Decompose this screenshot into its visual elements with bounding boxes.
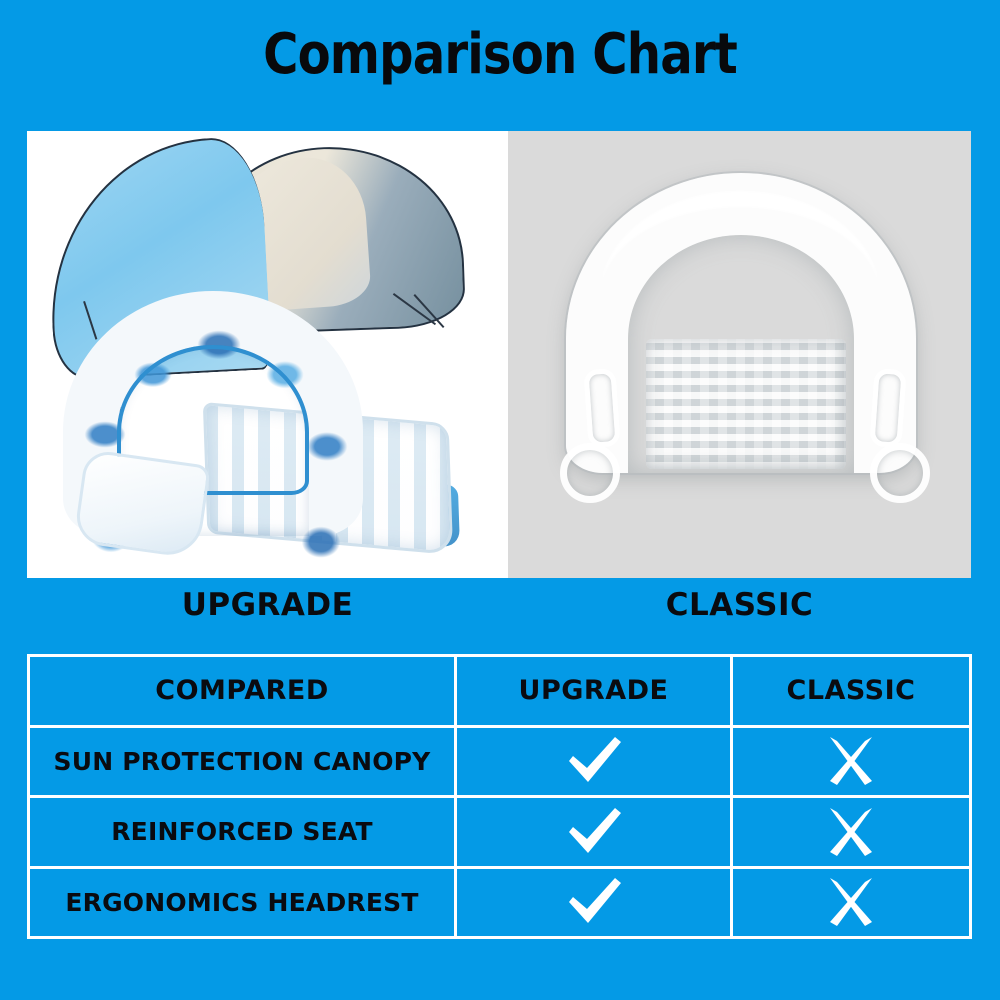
- product-image-classic: Clear transparent U-shaped inflatable po…: [508, 131, 971, 578]
- upgrade-value: [457, 728, 733, 796]
- page-title: Comparison Chart: [70, 24, 930, 86]
- classic-value: [733, 798, 969, 866]
- classic-value: [733, 728, 969, 796]
- caption-upgrade: UPGRADE: [27, 586, 508, 626]
- caption-classic: CLASSIC: [508, 586, 971, 626]
- header-upgrade: UPGRADE: [457, 657, 733, 725]
- cross-icon: [820, 735, 882, 787]
- comparison-table: COMPARED UPGRADE CLASSIC SUN PROTECTION …: [27, 654, 972, 939]
- classic-float-illustration: Clear transparent U-shaped inflatable po…: [508, 131, 971, 578]
- upgrade-float-illustration: Blue tropical leaf print U-shaped inflat…: [27, 131, 508, 578]
- upgrade-value: [457, 798, 733, 866]
- comparison-chart-page: Comparison Chart: [0, 0, 1000, 1000]
- check-icon: [563, 806, 625, 858]
- product-image-upgrade: Blue tropical leaf print U-shaped inflat…: [27, 131, 508, 578]
- float-body: [55, 281, 475, 541]
- classic-value: [733, 869, 969, 937]
- feature-label: ERGONOMICS HEADREST: [30, 869, 457, 937]
- upgrade-value: [457, 869, 733, 937]
- table-header-row: COMPARED UPGRADE CLASSIC: [30, 657, 969, 728]
- classic-cupholder-right: [870, 443, 930, 503]
- check-icon: [563, 876, 625, 928]
- cross-icon: [820, 806, 882, 858]
- classic-handle-left: [583, 368, 620, 448]
- header-classic: CLASSIC: [733, 657, 969, 725]
- product-captions: UPGRADE CLASSIC: [27, 586, 971, 626]
- header-compared: COMPARED: [30, 657, 457, 725]
- table-row: SUN PROTECTION CANOPY: [30, 728, 969, 799]
- feature-label: REINFORCED SEAT: [30, 798, 457, 866]
- table-row: REINFORCED SEAT: [30, 798, 969, 869]
- float-left-arm: [73, 449, 211, 560]
- feature-label: SUN PROTECTION CANOPY: [30, 728, 457, 796]
- cross-icon: [820, 876, 882, 928]
- table-row: ERGONOMICS HEADREST: [30, 869, 969, 937]
- classic-handle-right: [869, 368, 906, 448]
- product-image-panels: Blue tropical leaf print U-shaped inflat…: [27, 131, 971, 578]
- check-icon: [563, 735, 625, 787]
- classic-cupholder-left: [560, 443, 620, 503]
